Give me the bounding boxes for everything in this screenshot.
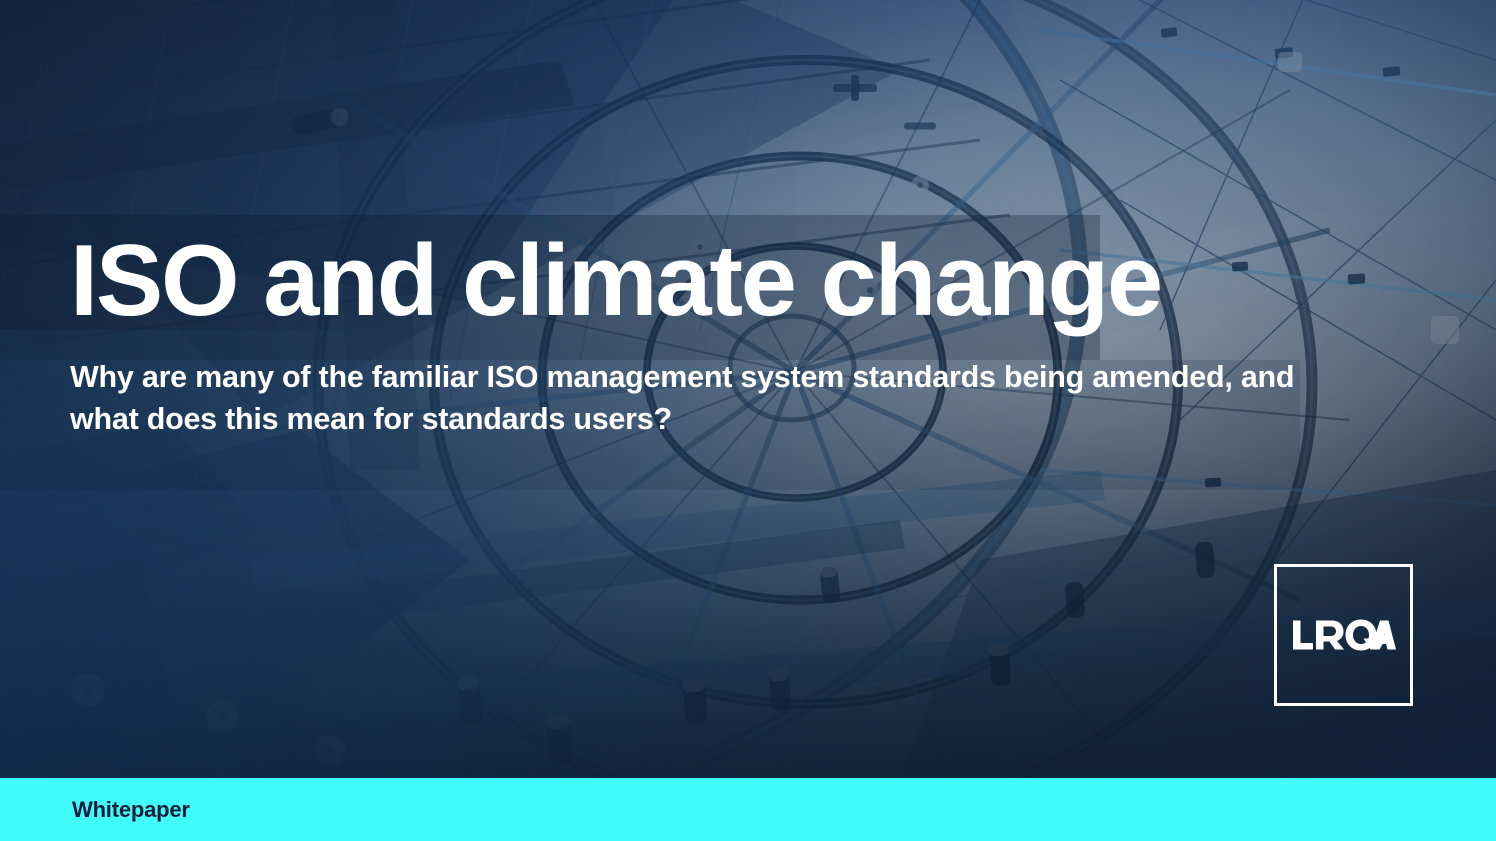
bottom-banner: Whitepaper xyxy=(0,778,1496,841)
page-title: ISO and climate change xyxy=(70,228,1410,335)
lrqa-logo xyxy=(1274,564,1413,706)
cover-text-block: ISO and climate change Why are many of t… xyxy=(70,228,1410,441)
page-subtitle: Why are many of the familiar ISO managem… xyxy=(70,357,1300,441)
whitepaper-cover: ISO and climate change Why are many of t… xyxy=(0,0,1496,841)
lrqa-wordmark-icon xyxy=(1292,618,1396,652)
document-type-label: Whitepaper xyxy=(72,797,190,823)
